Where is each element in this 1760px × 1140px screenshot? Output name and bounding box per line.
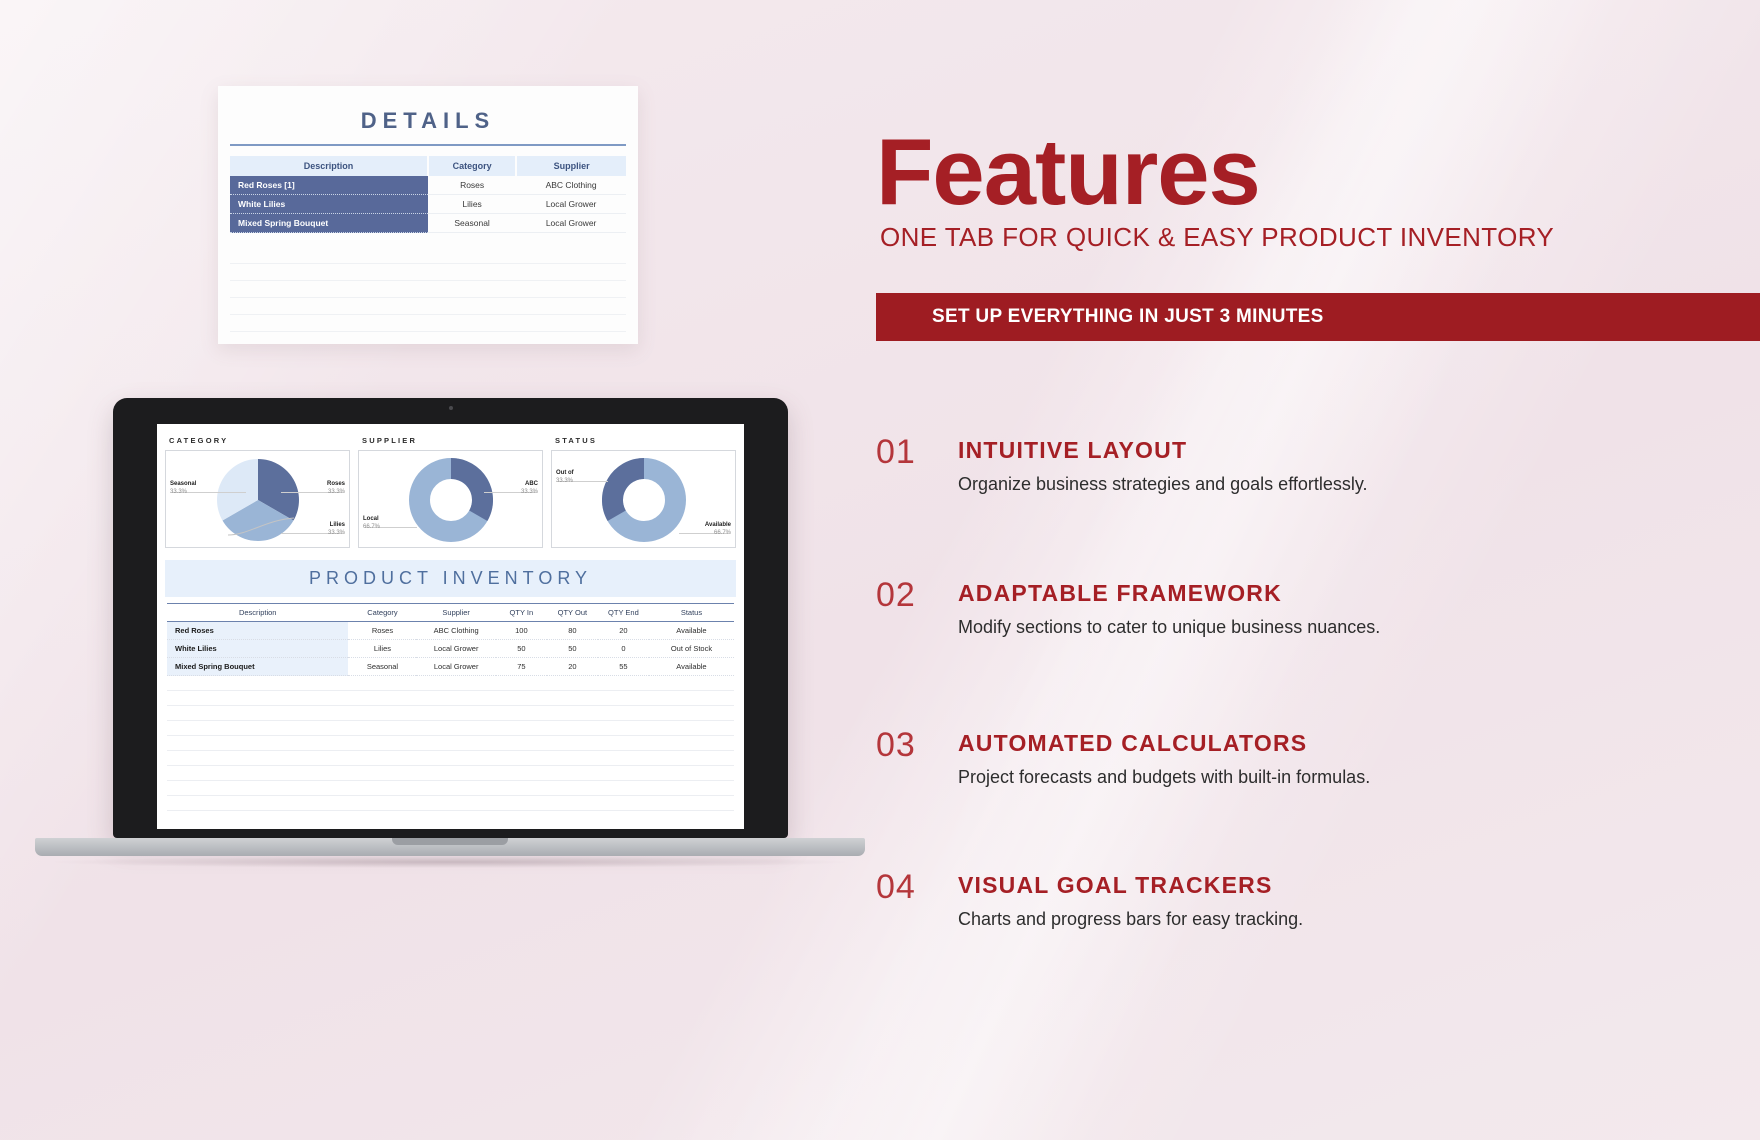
inv-cell-qty-end: 20 (598, 622, 649, 640)
inv-cell-supplier: Local Grower (416, 658, 495, 676)
feature-title: AUTOMATED CALCULATORS (958, 730, 1736, 757)
inventory-title: PRODUCT INVENTORY (165, 560, 736, 597)
inv-cell-status: Available (649, 622, 734, 640)
inv-cell-qty-out: 20 (547, 658, 598, 676)
details-cell-supplier: ABC Clothing (516, 176, 626, 195)
inv-cell-qty-in: 75 (496, 658, 547, 676)
details-col-category: Category (428, 156, 516, 176)
inv-cell-description: White Lilies (167, 640, 348, 658)
table-row: Red Roses Roses ABC Clothing 100 80 20 A… (167, 622, 734, 640)
details-cell-description: White Lilies (230, 195, 428, 214)
legend-value: 33.3% (328, 530, 345, 536)
inv-cell-status: Out of Stock (649, 640, 734, 658)
details-col-supplier: Supplier (516, 156, 626, 176)
inv-cell-qty-end: 0 (598, 640, 649, 658)
details-cell-description: Mixed Spring Bouquet (230, 214, 428, 233)
chart-canvas-supplier: ABC 33.3% Local 66.7% (358, 450, 543, 548)
feature-description: Charts and progress bars for easy tracki… (958, 909, 1736, 930)
inv-col-description: Description (167, 604, 348, 622)
laptop-base-notch (392, 838, 508, 845)
legend-value: 66.7% (363, 524, 380, 530)
legend-local: Local 66.7% (363, 516, 380, 531)
inv-cell-qty-end: 55 (598, 658, 649, 676)
laptop-lid: CATEGORY Seasonal 33.3% (113, 398, 788, 838)
features-panel: Features ONE TAB FOR QUICK & EASY PRODUC… (876, 0, 1760, 1140)
chart-block-supplier: SUPPLIER ABC 33.3% (358, 434, 543, 548)
legend-label: Out of (556, 470, 574, 478)
inv-cell-qty-in: 100 (496, 622, 547, 640)
chart-canvas-category: Seasonal 33.3% Roses 33.3% (165, 450, 350, 548)
inventory-header-row: Description Category Supplier QTY In QTY… (167, 604, 734, 622)
details-cell-supplier: Local Grower (516, 214, 626, 233)
legend-label: Lilies (328, 522, 345, 530)
details-empty-rows (230, 247, 626, 332)
legend-label: ABC (521, 481, 538, 489)
feature-item-03: 03 AUTOMATED CALCULATORS Project forecas… (876, 730, 1736, 788)
inv-cell-description: Red Roses (167, 622, 348, 640)
table-row: Mixed Spring Bouquet Seasonal Local Grow… (230, 214, 626, 233)
donut-chart-supplier (409, 457, 493, 543)
legend-value: 66.7% (714, 530, 731, 536)
inv-col-qty-in: QTY In (496, 604, 547, 622)
page-subtitle: ONE TAB FOR QUICK & EASY PRODUCT INVENTO… (880, 222, 1554, 253)
table-row: White Lilies Lilies Local Grower (230, 195, 626, 214)
feature-item-01: 01 INTUITIVE LAYOUT Organize business st… (876, 437, 1736, 495)
legend-value: 33.3% (170, 489, 187, 495)
inv-cell-category: Roses (348, 622, 416, 640)
legend-abc: ABC 33.3% (521, 481, 538, 496)
donut-chart-status (602, 457, 686, 543)
webcam-icon (449, 406, 453, 410)
legend-label: Seasonal (170, 481, 196, 489)
details-table: Description Category Supplier Red Roses … (230, 156, 626, 233)
legend-label: Available (705, 522, 731, 530)
legend-out-of-stock: Out of 33.3% (556, 470, 574, 485)
setup-banner: SET UP EVERYTHING IN JUST 3 MINUTES (876, 293, 1760, 341)
legend-available: Available 66.7% (705, 522, 731, 537)
chart-block-category: CATEGORY Seasonal 33.3% (165, 434, 350, 548)
details-cell-category: Roses (428, 176, 516, 195)
feature-number: 03 (876, 726, 916, 765)
table-row: Mixed Spring Bouquet Seasonal Local Grow… (167, 658, 734, 676)
details-cell-supplier: Local Grower (516, 195, 626, 214)
inv-col-status: Status (649, 604, 734, 622)
chart-canvas-status: Out of 33.3% Available 66.7% (551, 450, 736, 548)
legend-lilies: Lilies 33.3% (328, 522, 345, 537)
inv-cell-supplier: ABC Clothing (416, 622, 495, 640)
table-row: White Lilies Lilies Local Grower 50 50 0… (167, 640, 734, 658)
feature-description: Organize business strategies and goals e… (958, 474, 1736, 495)
setup-banner-text: SET UP EVERYTHING IN JUST 3 MINUTES (932, 306, 1324, 328)
feature-item-04: 04 VISUAL GOAL TRACKERS Charts and progr… (876, 872, 1736, 930)
page-title: Features (876, 118, 1260, 226)
table-row: Red Roses [1] Roses ABC Clothing (230, 176, 626, 195)
details-cell-description: Red Roses [1] (230, 176, 428, 195)
inventory-table: Description Category Supplier QTY In QTY… (167, 603, 734, 676)
legend-value: 33.3% (521, 489, 538, 495)
inv-cell-description: Mixed Spring Bouquet (167, 658, 348, 676)
leader-curve-lilies (226, 515, 296, 537)
feature-number: 02 (876, 576, 916, 615)
details-cell-category: Lilies (428, 195, 516, 214)
feature-description: Modify sections to cater to unique busin… (958, 617, 1736, 638)
feature-number: 04 (876, 868, 916, 907)
inv-cell-qty-out: 80 (547, 622, 598, 640)
details-cell-category: Seasonal (428, 214, 516, 233)
legend-label: Roses (327, 481, 345, 489)
feature-item-02: 02 ADAPTABLE FRAMEWORK Modify sections t… (876, 580, 1736, 638)
charts-row: CATEGORY Seasonal 33.3% (157, 424, 744, 548)
details-table-header-row: Description Category Supplier (230, 156, 626, 176)
feature-number: 01 (876, 433, 916, 472)
details-card: DETAILS Description Category Supplier Re… (218, 86, 638, 344)
inv-col-qty-end: QTY End (598, 604, 649, 622)
inv-cell-category: Seasonal (348, 658, 416, 676)
inv-cell-qty-out: 50 (547, 640, 598, 658)
laptop-shadow (55, 856, 845, 868)
inv-cell-category: Lilies (348, 640, 416, 658)
legend-roses: Roses 33.3% (327, 481, 345, 496)
feature-description: Project forecasts and budgets with built… (958, 767, 1736, 788)
legend-label: Local (363, 516, 380, 524)
chart-title-status: STATUS (555, 436, 736, 445)
laptop-screen: CATEGORY Seasonal 33.3% (157, 424, 744, 829)
inv-col-category: Category (348, 604, 416, 622)
inv-col-qty-out: QTY Out (547, 604, 598, 622)
chart-title-category: CATEGORY (169, 436, 350, 445)
chart-title-supplier: SUPPLIER (362, 436, 543, 445)
feature-title: INTUITIVE LAYOUT (958, 437, 1736, 464)
inv-cell-supplier: Local Grower (416, 640, 495, 658)
chart-block-status: STATUS Out of 33.3% (551, 434, 736, 548)
details-title: DETAILS (218, 108, 638, 134)
legend-value: 33.3% (556, 478, 573, 484)
legend-value: 33.3% (328, 489, 345, 495)
laptop-mockup: CATEGORY Seasonal 33.3% (35, 398, 865, 883)
inv-col-supplier: Supplier (416, 604, 495, 622)
inv-cell-qty-in: 50 (496, 640, 547, 658)
feature-title: ADAPTABLE FRAMEWORK (958, 580, 1736, 607)
inventory-empty-rows (167, 676, 734, 811)
details-divider (230, 144, 626, 146)
feature-title: VISUAL GOAL TRACKERS (958, 872, 1736, 899)
inv-cell-status: Available (649, 658, 734, 676)
details-col-description: Description (230, 156, 428, 176)
legend-seasonal: Seasonal 33.3% (170, 481, 196, 496)
